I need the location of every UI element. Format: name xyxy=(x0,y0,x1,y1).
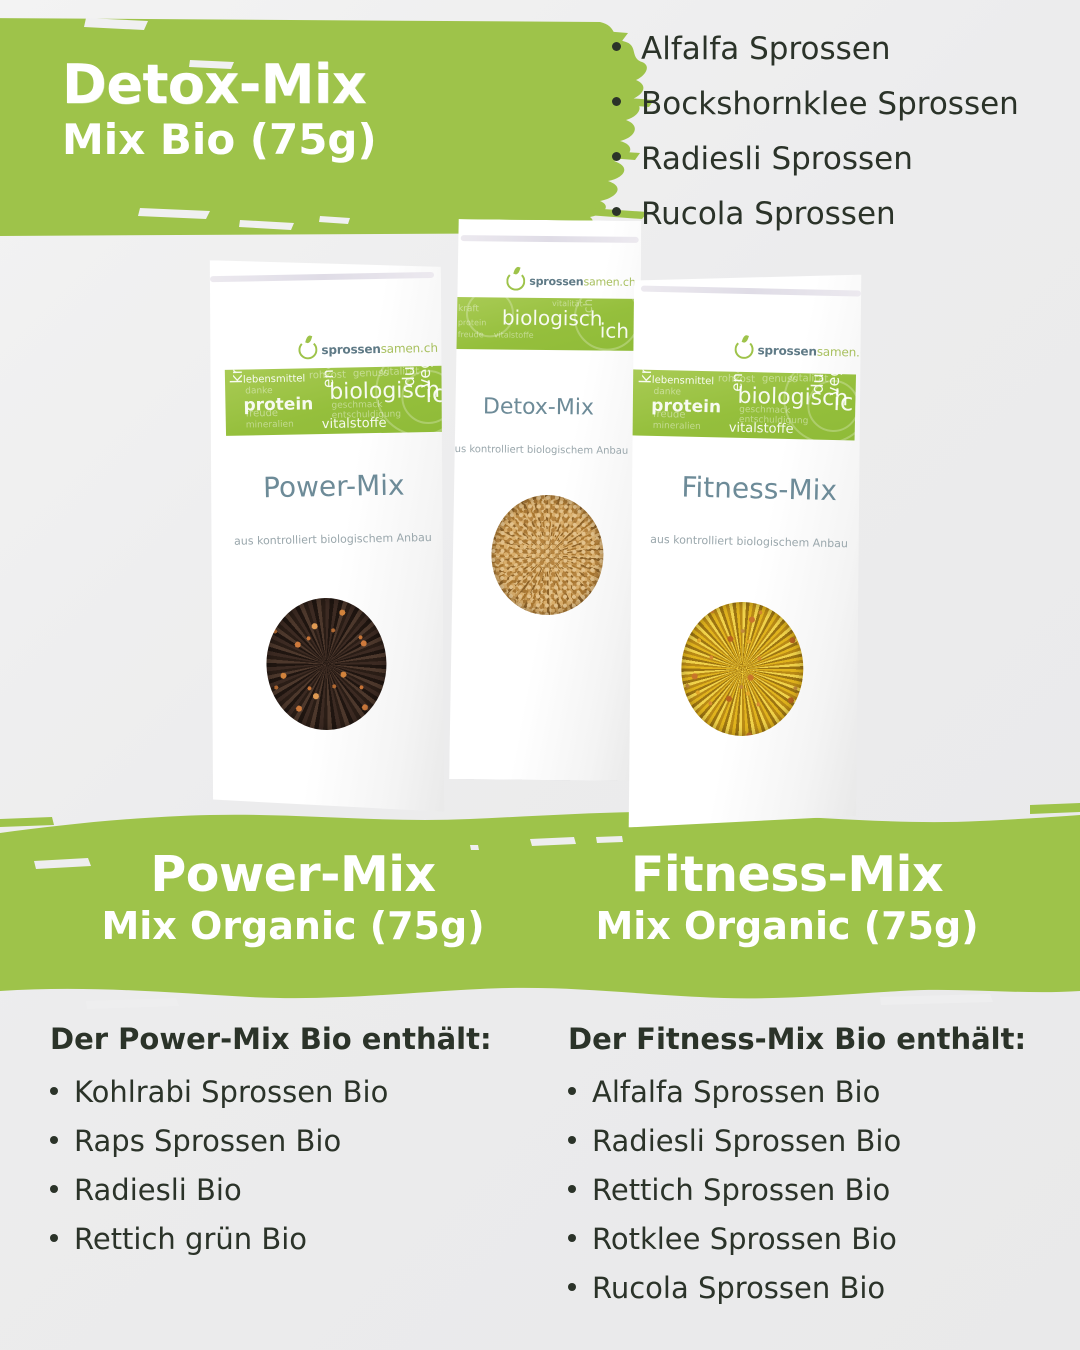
word-cloud-word: vitalität xyxy=(552,300,583,308)
package-name: Fitness-Mix xyxy=(681,471,837,508)
word-cloud-accent: ich xyxy=(425,381,444,406)
list-item: Radiesli Bio xyxy=(50,1176,540,1205)
word-cloud-word: mineralien xyxy=(653,422,701,432)
word-cloud-word: protein xyxy=(458,319,487,327)
package-power-mix: sprossensamen.ch kraft lebensmittel rohk… xyxy=(203,256,452,816)
package-tagline: aus kontrolliert biologischem Anbau xyxy=(650,533,848,550)
list-item-label: Alfalfa Sprossen xyxy=(641,34,891,65)
package-detox-mix: sprossensamen.ch kraft protein freude bi… xyxy=(449,219,645,781)
detox-ingredient-list: Alfalfa Sprossen Bockshornklee Sprossen … xyxy=(612,34,1072,254)
brand-logo: sprossensamen.ch xyxy=(506,272,636,292)
logo-light-text: samen xyxy=(817,344,857,359)
list-item: Rucola Sprossen Bio xyxy=(568,1274,1080,1303)
logo-tld-text: .ch xyxy=(856,345,874,359)
list-item-label: Kohlrabi Sprossen Bio xyxy=(74,1078,388,1107)
bullet-icon xyxy=(612,97,621,106)
list-item-label: Alfalfa Sprossen Bio xyxy=(592,1078,880,1107)
bullet-icon xyxy=(50,1185,58,1193)
word-cloud-word: freude xyxy=(458,331,484,339)
bullet-icon xyxy=(568,1185,576,1193)
list-item: Rucola Sprossen xyxy=(612,199,1072,230)
list-item: Rettich grün Bio xyxy=(50,1225,540,1254)
leaf-icon xyxy=(298,340,317,359)
word-cloud-word: vitalstoffe xyxy=(494,331,534,339)
word-cloud-word: vitalstoffe xyxy=(729,422,794,436)
list-item-label: Raps Sprossen Bio xyxy=(74,1127,341,1156)
leaf-icon xyxy=(734,340,753,359)
word-cloud-word: freude xyxy=(246,409,279,420)
bullet-icon xyxy=(612,152,621,161)
bullet-icon xyxy=(612,207,621,216)
bullet-icon xyxy=(50,1087,58,1095)
list-item-label: Rucola Sprossen xyxy=(641,199,896,230)
power-mix-column: Der Power-Mix Bio enthält: Kohlrabi Spro… xyxy=(0,1022,540,1350)
power-title-block: Power-Mix Mix Organic (75g) xyxy=(58,850,528,947)
list-item-label: Radiesli Sprossen Bio xyxy=(592,1127,901,1156)
bullet-icon xyxy=(612,42,621,51)
list-item: Radiesli Sprossen Bio xyxy=(568,1127,1080,1156)
fitness-title-block: Fitness-Mix Mix Organic (75g) xyxy=(552,850,1022,947)
package-name: Power-Mix xyxy=(263,469,405,505)
power-title: Power-Mix xyxy=(58,850,528,899)
package-word-cloud-band: kraft protein freude biologisch vitalsto… xyxy=(454,297,645,351)
word-cloud-accent: ich xyxy=(833,390,856,415)
list-item-label: Bockshornklee Sprossen xyxy=(641,89,1019,120)
list-item-label: Rettich Sprossen Bio xyxy=(592,1176,890,1205)
word-cloud-word: mineralien xyxy=(246,421,294,431)
package-crimp xyxy=(210,272,434,282)
word-cloud-word: lebensmittel xyxy=(243,374,305,385)
bullet-icon xyxy=(568,1283,576,1291)
word-cloud-word: kraft xyxy=(458,305,479,314)
logo-bold-text: sprossen xyxy=(321,341,381,356)
word-cloud-word: lebensmittel xyxy=(652,376,714,387)
brand-logo: sprossensamen.ch xyxy=(734,340,874,362)
fitness-subtitle: Mix Organic (75g) xyxy=(552,907,1022,947)
logo-tld-text: .ch xyxy=(619,276,636,289)
bullet-icon xyxy=(50,1136,58,1144)
package-fitness-mix: sprossensamen.ch kraft lebensmittel rohk… xyxy=(622,269,869,832)
infographic-page: Detox-Mix Mix Bio (75g) Alfalfa Sprossen… xyxy=(0,0,1080,1350)
word-cloud-accent: ich xyxy=(600,321,629,341)
bullet-icon xyxy=(568,1087,576,1095)
word-cloud-word: ich xyxy=(582,299,594,317)
power-subtitle: Mix Organic (75g) xyxy=(58,907,528,947)
detox-title-block: Detox-Mix Mix Bio (75g) xyxy=(62,58,482,162)
fitness-list-heading: Der Fitness-Mix Bio enthält: xyxy=(568,1022,1080,1056)
logo-tld-text: .ch xyxy=(420,340,438,354)
detox-subtitle: Mix Bio (75g) xyxy=(62,118,482,162)
package-word-cloud-band: kraft lebensmittel rohkost danke protein… xyxy=(225,366,444,436)
package-name: Detox-Mix xyxy=(483,394,594,420)
list-item: Rotklee Sprossen Bio xyxy=(568,1225,1080,1254)
ingredient-columns: Der Power-Mix Bio enthält: Kohlrabi Spro… xyxy=(0,1022,1080,1350)
detox-title: Detox-Mix xyxy=(62,58,482,112)
word-cloud-word: freude xyxy=(653,410,686,421)
logo-bold-text: sprossen xyxy=(757,343,817,358)
brand-logo: sprossensamen.ch xyxy=(298,338,438,360)
seed-window-fitness xyxy=(680,601,805,738)
fitness-title: Fitness-Mix xyxy=(552,850,1022,899)
logo-bold-text: sprossen xyxy=(529,275,583,289)
package-tagline: aus kontrolliert biologischem Anbau xyxy=(448,444,628,457)
power-list-heading: Der Power-Mix Bio enthält: xyxy=(50,1022,540,1056)
list-item-label: Radiesli Sprossen xyxy=(641,144,913,175)
list-item-label: Radiesli Bio xyxy=(74,1176,242,1205)
seed-window-power xyxy=(265,597,388,731)
word-cloud-word: vitalstoffe xyxy=(322,417,387,431)
logo-light-text: samen xyxy=(381,341,421,356)
logo-light-text: samen xyxy=(583,275,619,288)
list-item-label: Rucola Sprossen Bio xyxy=(592,1274,885,1303)
package-tagline: aus kontrolliert biologischem Anbau xyxy=(234,531,432,548)
leaf-icon xyxy=(506,272,525,291)
list-item-label: Rettich grün Bio xyxy=(74,1225,307,1254)
list-item: Raps Sprossen Bio xyxy=(50,1127,540,1156)
list-item: Alfalfa Sprossen xyxy=(612,34,1072,65)
package-word-cloud-band: kraft lebensmittel rohkost danke protein… xyxy=(631,369,856,440)
list-item: Radiesli Sprossen xyxy=(612,144,1072,175)
package-crimp xyxy=(641,286,861,297)
fitness-mix-column: Der Fitness-Mix Bio enthält: Alfalfa Spr… xyxy=(540,1022,1080,1350)
list-item: Kohlrabi Sprossen Bio xyxy=(50,1078,540,1107)
list-item: Alfalfa Sprossen Bio xyxy=(568,1078,1080,1107)
seed-window-detox xyxy=(491,494,604,615)
bullet-icon xyxy=(568,1136,576,1144)
list-item: Rettich Sprossen Bio xyxy=(568,1176,1080,1205)
bullet-icon xyxy=(50,1234,58,1242)
list-item-label: Rotklee Sprossen Bio xyxy=(592,1225,897,1254)
bullet-icon xyxy=(568,1234,576,1242)
product-photo-stage: sprossensamen.ch kraft protein freude bi… xyxy=(0,210,1080,850)
list-item: Bockshornklee Sprossen xyxy=(612,89,1072,120)
